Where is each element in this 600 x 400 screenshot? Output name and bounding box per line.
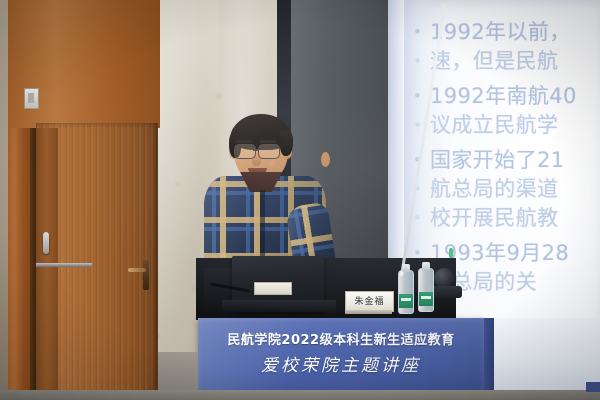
event-banner: 民航学院2022级本科生新生适应教育 爱校荣院主题讲座 <box>198 318 484 392</box>
laptop-asset-label <box>254 282 292 295</box>
speaker-hair-side-right <box>280 130 293 156</box>
speaker-nose <box>252 153 261 166</box>
lecture-photo-scene: • 1992年以前， • 速，但是民航 • 1992年南航40 • 议成立民航学 <box>0 0 600 400</box>
bullet-indent-spacer: • <box>410 47 428 76</box>
bottle-cap <box>402 264 410 272</box>
bottle-cap <box>422 262 430 270</box>
nameplate-stand <box>345 310 392 314</box>
slide-bullet-text: 1992年以前， <box>428 18 571 47</box>
bullet-marker-icon: • <box>410 82 428 111</box>
bullet-marker-icon: • <box>410 18 428 47</box>
left-wall-strip <box>0 0 8 400</box>
slide-bullet-text: 速，但是民航 <box>428 47 558 76</box>
floor <box>0 390 600 400</box>
door-lever-handle[interactable] <box>128 268 146 272</box>
water-bottle[interactable] <box>398 270 414 314</box>
slide-bullet-text: 国家开始了21 <box>428 146 565 175</box>
slide-bullet-text: 航总局的渠道 <box>428 175 558 204</box>
speaker-ear-right <box>321 152 330 167</box>
slide-bullet-text: 议成立民航学 <box>428 111 558 140</box>
water-bottle[interactable] <box>418 268 434 312</box>
bottle-label <box>399 294 413 308</box>
banner-sheen <box>198 318 484 392</box>
microphone-indicator-light <box>449 248 453 258</box>
door-handle[interactable] <box>43 232 49 254</box>
door-lock[interactable] <box>143 260 149 290</box>
glasses-bridge <box>253 149 259 151</box>
banner-title-line: 民航学院2022级本科生新生适应教育 <box>198 333 484 348</box>
floor-blue-object <box>586 382 600 392</box>
banner-subtitle-line: 爱校荣院主题讲座 <box>198 356 484 376</box>
speaker-eyebrow-right <box>260 140 276 143</box>
banner-right-edge <box>484 318 494 392</box>
slide-bullet: • 1992年南航40 • 议成立民航学 <box>410 82 598 140</box>
speaker-name: 朱金福 <box>354 297 384 307</box>
slide-bullet-text: 1992年南航40 <box>428 82 577 111</box>
laptop-base <box>222 300 336 312</box>
slide-bullet: • 国家开始了21 • 航总局的渠道 • 校开展民航教 <box>410 146 598 233</box>
glasses-lens-right <box>258 144 280 159</box>
bottle-label <box>419 292 433 306</box>
wall-below-screen <box>494 318 600 392</box>
slide-bullet-text: 校开展民航教 <box>428 204 558 233</box>
speaker-nameplate: 朱金福 <box>345 291 394 312</box>
speaker-eyebrow-left <box>236 140 252 143</box>
light-switch[interactable] <box>24 88 39 109</box>
door-push-bar[interactable] <box>36 263 92 267</box>
microphone-head-icon <box>434 268 454 288</box>
